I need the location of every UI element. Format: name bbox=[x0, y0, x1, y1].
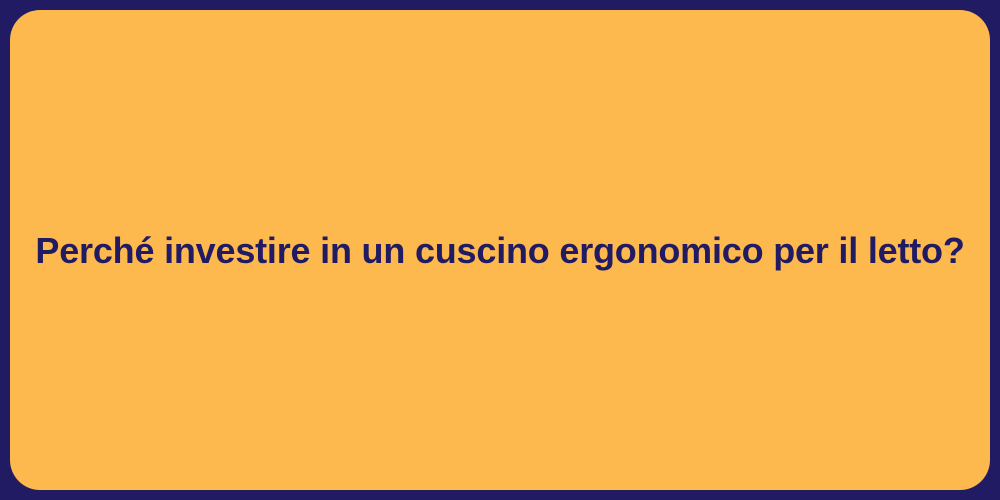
banner-card: Perché investire in un cuscino ergonomic… bbox=[10, 10, 990, 490]
headline-text: Perché investire in un cuscino ergonomic… bbox=[10, 228, 990, 273]
banner-outer-frame: Perché investire in un cuscino ergonomic… bbox=[0, 0, 1000, 500]
